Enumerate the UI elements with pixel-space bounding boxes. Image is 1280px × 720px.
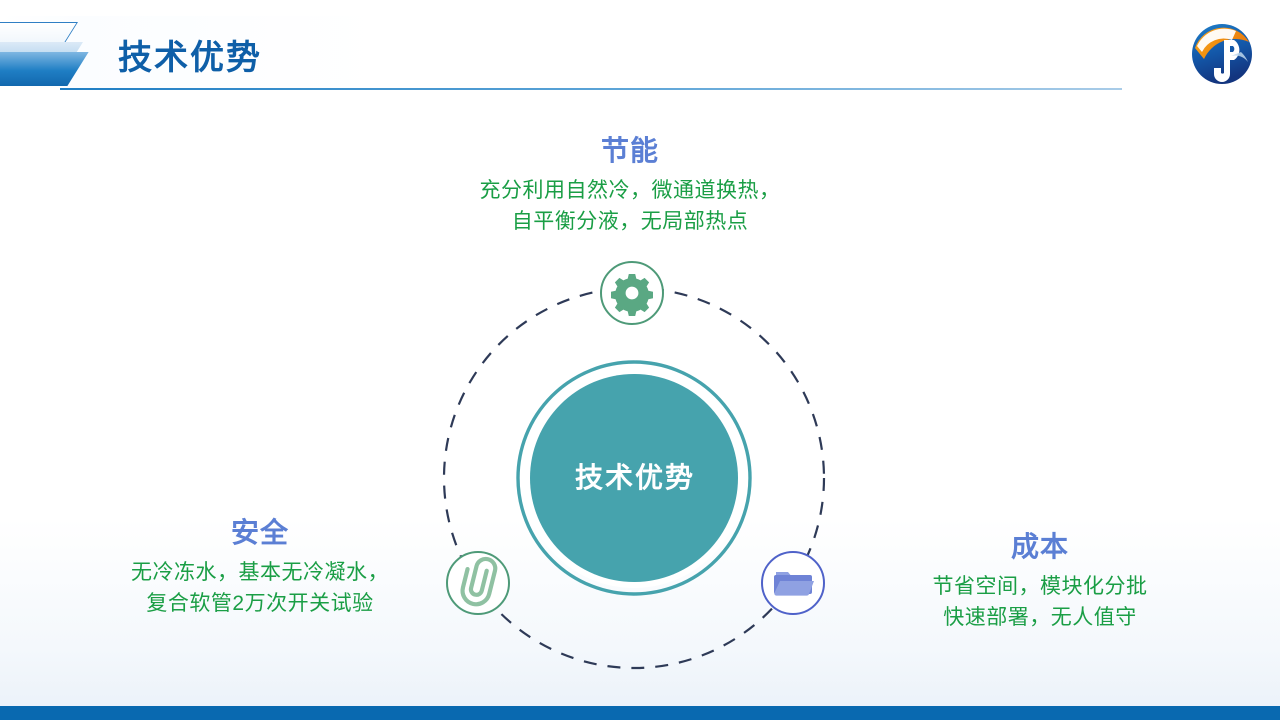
advantage-heading-top: 节能: [380, 136, 880, 167]
advantage-heading-left: 安全: [40, 518, 480, 549]
badge-right[interactable]: [762, 552, 824, 614]
footer-bar: [0, 706, 1280, 720]
advantage-block-top: 节能 充分利用自然冷，微通道换热， 自平衡分液，无局部热点: [380, 136, 880, 237]
badge-top-circle[interactable]: [601, 262, 663, 324]
gear-icon: [611, 274, 653, 316]
slide-header: 技术优势: [0, 0, 1280, 96]
logo-icon: [1186, 18, 1258, 90]
page-title: 技术优势: [118, 30, 262, 79]
advantage-heading-right: 成本: [820, 532, 1260, 563]
advantage-body-right: 节省空间，模块化分批 快速部署，无人值守: [820, 571, 1260, 633]
advantage-body-top: 充分利用自然冷，微通道换热， 自平衡分液，无局部热点: [380, 175, 880, 237]
slide: 技术优势: [0, 0, 1280, 720]
badge-top[interactable]: [601, 262, 663, 324]
center-label: 技术优势: [505, 456, 765, 496]
folder-icon: [774, 572, 814, 596]
header-underline: [60, 88, 1122, 90]
company-logo: [1186, 18, 1258, 90]
advantage-body-left: 无冷冻水，基本无冷凝水， 复合软管2万次开关试验: [40, 557, 480, 619]
advantage-block-left: 安全 无冷冻水，基本无冷凝水， 复合软管2万次开关试验: [40, 518, 480, 619]
advantage-block-right: 成本 节省空间，模块化分批 快速部署，无人值守: [820, 532, 1260, 633]
badge-right-circle[interactable]: [762, 552, 824, 614]
